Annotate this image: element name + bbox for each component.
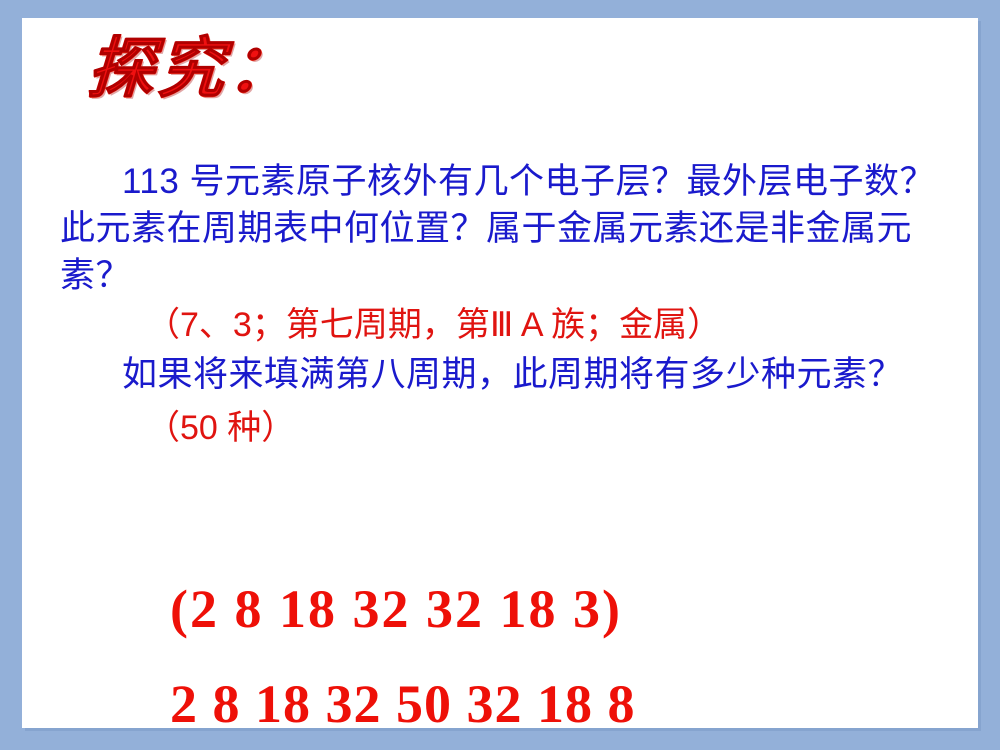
slide-body: 113 号元素原子核外有几个电子层？最外层电子数？此元素在周期表中何位置？属于金… (60, 158, 950, 458)
slide-content-panel: 探究： 113 号元素原子核外有几个电子层？最外层电子数？此元素在周期表中何位置… (22, 18, 978, 728)
shell-electron-row-known: (2 8 18 32 32 18 3) (170, 578, 622, 640)
shell-electron-row-predicted: 2 8 18 32 50 32 18 8 (170, 673, 636, 735)
answer-2-text: （50 种） (60, 398, 950, 458)
page-title: 探究： (86, 34, 300, 103)
question-2-text: 如果将来填满第八周期，此周期将有多少种元素？ (60, 351, 950, 398)
slide-canvas: 探究： 113 号元素原子核外有几个电子层？最外层电子数？此元素在周期表中何位置… (0, 0, 1000, 750)
answer-1-text: （7、3；第七周期，第Ⅲ A 族；金属） (60, 299, 950, 351)
question-1-text: 113 号元素原子核外有几个电子层？最外层电子数？此元素在周期表中何位置？属于金… (60, 158, 950, 299)
